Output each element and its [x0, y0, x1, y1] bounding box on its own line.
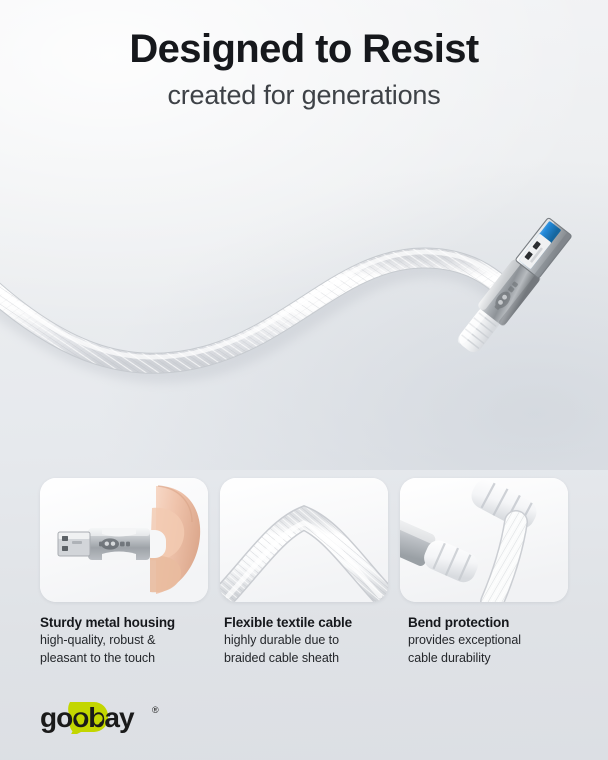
caption-title: Bend protection: [408, 614, 580, 631]
caption-line-1: high-quality, robust &: [40, 633, 212, 649]
caption-line-1: highly durable due to: [224, 633, 396, 649]
caption-line-1: provides exceptional: [408, 633, 580, 649]
caption-bend-protection: Bend protection provides exceptional cab…: [408, 614, 580, 666]
caption-line-2: braided cable sheath: [224, 651, 396, 667]
card-bend-protection[interactable]: [400, 478, 568, 602]
headline-block: Designed to Resist created for generatio…: [0, 24, 608, 112]
hero-product-image: [0, 118, 608, 470]
page-subtitle: created for generations: [0, 78, 608, 112]
usb-connector-thumb: [58, 528, 166, 560]
feature-caption-row: Sturdy metal housing high-quality, robus…: [40, 614, 580, 666]
product-poster: Designed to Resist created for generatio…: [0, 0, 608, 760]
caption-sturdy-metal-housing: Sturdy metal housing high-quality, robus…: [40, 614, 212, 666]
logo-wordmark: goobay: [40, 702, 135, 733]
caption-flexible-textile-cable: Flexible textile cable highly durable du…: [224, 614, 396, 666]
feature-card-row: [40, 478, 568, 602]
logo-trademark: ®: [152, 705, 159, 715]
usb-a-connector: [452, 216, 574, 358]
caption-line-2: cable durability: [408, 651, 580, 667]
card-sturdy-metal-housing[interactable]: [40, 478, 208, 602]
card-flexible-textile-cable[interactable]: [220, 478, 388, 602]
caption-title: Sturdy metal housing: [40, 614, 212, 631]
hero-cable: [0, 252, 512, 363]
page-title: Designed to Resist: [0, 24, 608, 74]
goobay-logo: goobay ®: [40, 700, 170, 734]
caption-title: Flexible textile cable: [224, 614, 396, 631]
caption-line-2: pleasant to the touch: [40, 651, 212, 667]
